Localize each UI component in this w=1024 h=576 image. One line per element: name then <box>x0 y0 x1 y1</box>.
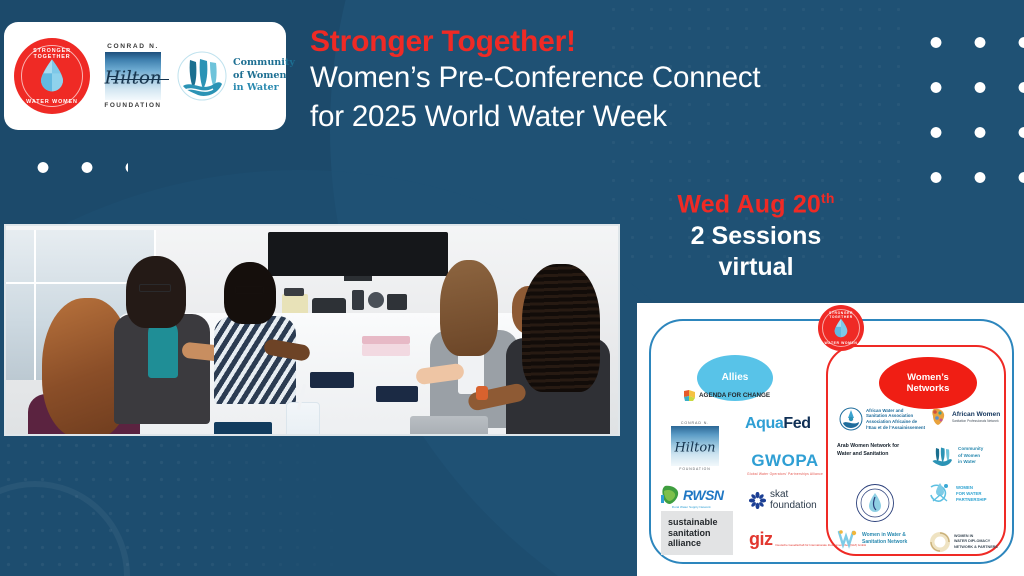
wiwsn-label: Women in Water & Sanitation Network <box>862 532 907 546</box>
logo-african-women-sanitation-professionals-network: African Women Sanitation Professionals N… <box>929 407 1000 427</box>
wwdn-line-3: NETWORK & PARTNERS <box>954 545 998 550</box>
logo-rwsn: RWSN Rural Water Supply Network <box>659 485 724 509</box>
diagram-stronger-together-badge-icon: STRONGER TOGETHER WATER WOMEN <box>818 305 864 351</box>
ssa-line-1: sustainable <box>668 517 718 528</box>
event-date-text: Wed Aug 20 <box>677 190 821 218</box>
headline-title-line-2: for 2025 World Water Week <box>310 98 930 136</box>
wfwp-line-3: PARTNERSHIP <box>956 497 986 503</box>
notebook-3 <box>214 422 272 436</box>
cwiw-line-3: in Water <box>233 82 295 95</box>
stacked-books-2 <box>362 336 410 344</box>
gwopa-label: GWOPA <box>747 451 823 471</box>
stronger-together-water-women-badge-icon: STRONGER TOGETHER WATER WOMEN <box>14 38 90 114</box>
diagram-water-drop-icon <box>834 318 849 338</box>
skat-line-2: foundation <box>770 500 817 511</box>
event-sessions-count: 2 Sessions <box>606 222 906 251</box>
headline-tagline: Stronger Together! <box>310 24 930 59</box>
hilton-mini-script: Hilton <box>674 440 715 455</box>
water-drop-icon <box>39 58 65 92</box>
community-of-women-in-water-logo: Community of Women in Water <box>176 50 295 102</box>
hilton-bottom-text: FOUNDATION <box>104 102 161 109</box>
awsa-line-4: l’Eau et de l’Assainissement <box>866 425 925 431</box>
wfwp-label: WOMEN FOR WATER PARTNERSHIP <box>956 485 986 503</box>
circular-seal-icon <box>855 483 895 523</box>
hilton-mini-top: CONRAD N. <box>665 421 725 425</box>
awsa-label: African Water and Sanitation Association… <box>866 408 925 431</box>
cwiw-line-2: of Women <box>233 70 295 83</box>
partner-logo-bar: STRONGER TOGETHER WATER WOMEN CONRAD N. … <box>4 22 286 130</box>
wiwsn-line-2: Sanitation Network <box>862 539 907 546</box>
logo-skat-foundation: skat foundation <box>749 489 817 511</box>
networks-bubble: Women’s Networks <box>879 357 977 409</box>
people-group <box>6 226 618 434</box>
cwiw-mini-line-3: in Water <box>958 459 983 466</box>
partners-ecosystem-diagram: STRONGER TOGETHER WATER WOMEN Allies Wom… <box>637 303 1024 576</box>
community-wave-icon <box>176 50 228 102</box>
cwiw-mini-line-2: of Women <box>958 453 983 460</box>
logo-arab-women-network-for-water-and-sanitation: Arab Women Network for Water and Sanitat… <box>837 443 899 458</box>
agenda-for-change-label: AGENDA FOR CHANGE <box>699 392 770 400</box>
logo-women-for-water-partnership: WOMEN FOR WATER PARTNERSHIP <box>927 481 986 507</box>
african-women-label: African Women Sanitation Professionals N… <box>952 411 1000 424</box>
ssa-line-3: alliance <box>668 538 718 549</box>
awsa-icon <box>839 407 863 431</box>
agenda-for-change-icon <box>683 389 696 402</box>
hilton-mini-bottom: FOUNDATION <box>665 467 725 471</box>
networks-bubble-label: Women’s Networks <box>907 372 950 395</box>
rwsn-sub: Rural Water Supply Network <box>659 505 724 509</box>
logo-african-water-sanitation-association: African Water and Sanitation Association… <box>839 407 925 431</box>
logo-aquafed: AquaFed <box>745 415 811 433</box>
cwiw-mini-line-1: Community <box>958 446 983 453</box>
skat-label: skat foundation <box>770 489 817 511</box>
event-details-block: Wed Aug 20th 2 Sessions virtual <box>606 190 906 282</box>
hilton-mini-box: Hilton <box>671 426 719 466</box>
hilton-top-text: CONRAD N. <box>107 43 159 50</box>
african-women-line-1: African Women <box>952 411 1000 420</box>
event-date-suffix: th <box>821 190 835 206</box>
logo-conrad-hilton-foundation: CONRAD N. Hilton FOUNDATION <box>665 421 725 471</box>
arab-women-line-1: Arab Women Network for <box>837 443 899 451</box>
conrad-hilton-foundation-logo: CONRAD N. Hilton FOUNDATION <box>96 43 170 109</box>
wfwp-icon <box>927 481 953 507</box>
aquafed-label-a: Aqua <box>745 415 783 432</box>
headline-block: Stronger Together! Women’s Pre-Conferenc… <box>310 24 930 136</box>
stacked-books <box>362 344 410 356</box>
networks-bubble-line-2: Networks <box>907 383 950 394</box>
skat-line-1: skat <box>770 489 817 500</box>
notebook-1 <box>310 372 354 388</box>
logo-arab-countries-water-utilities <box>855 483 895 523</box>
diagram-badge-bottom-text: WATER WOMEN <box>818 341 864 345</box>
logo-women-in-water-and-sanitation-network: Women in Water & Sanitation Network <box>837 529 907 549</box>
tumbler-cup <box>286 402 320 436</box>
awsa-line-3: Association Africaine de <box>866 419 925 425</box>
headline-title-line-1: Women’s Pre-Conference Connect <box>310 59 930 97</box>
networks-bubble-line-1: Women’s <box>907 372 949 383</box>
cwiw-mini-label: Community of Women in Water <box>958 446 983 467</box>
cwiw-line-1: Community <box>233 57 295 70</box>
rwsn-africa-icon <box>659 485 681 505</box>
logo-gwopa: GWOPA Global Water Operators’ Partnershi… <box>747 451 823 476</box>
arab-women-label: Arab Women Network for Water and Sanitat… <box>837 443 899 458</box>
cwiw-wave-icon <box>929 443 955 469</box>
logo-sustainable-sanitation-alliance: sustainable sanitation alliance <box>661 511 733 555</box>
giz-label: giz <box>749 529 773 550</box>
event-format: virtual <box>606 253 906 282</box>
wwdn-icon <box>929 531 951 553</box>
rwsn-label: RWSN <box>683 487 724 503</box>
community-logo-text: Community of Women in Water <box>233 57 295 95</box>
laptop <box>410 416 488 436</box>
logo-agenda-for-change: AGENDA FOR CHANGE <box>683 389 770 402</box>
skat-flower-icon <box>749 492 766 509</box>
badge-bottom-text: WATER WOMEN <box>14 99 90 105</box>
logo-women-in-water-diplomacy-network: WOMEN IN WATER DIPLOMACY NETWORK & PARTN… <box>929 531 998 553</box>
meeting-photo <box>4 224 620 436</box>
notebook-2 <box>376 386 418 402</box>
ssa-line-2: sanitation <box>668 528 718 539</box>
arab-women-line-2: Water and Sanitation <box>837 451 899 459</box>
event-date: Wed Aug 20th <box>606 190 906 219</box>
african-women-icon <box>929 407 949 427</box>
allies-bubble-label: Allies <box>722 372 749 384</box>
african-women-line-2: Sanitation Professionals Network <box>952 419 1000 423</box>
wiwsn-line-1: Women in Water & <box>862 532 907 539</box>
wwdn-label: WOMEN IN WATER DIPLOMACY NETWORK & PARTN… <box>954 534 998 550</box>
dot-grid-left <box>18 142 128 204</box>
aquafed-label-b: Fed <box>783 415 810 432</box>
hilton-gradient-box: Hilton <box>105 52 161 100</box>
logo-community-of-women-in-water: Community of Women in Water <box>929 443 983 469</box>
gwopa-sub: Global Water Operators’ Partnerships All… <box>747 472 823 476</box>
wiwsn-w-icon <box>837 529 859 549</box>
